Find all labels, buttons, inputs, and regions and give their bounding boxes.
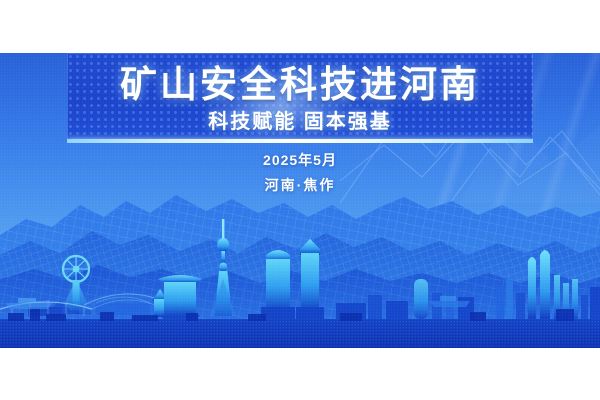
page-subtitle: 科技赋能 固本强基	[208, 112, 392, 132]
poster-image: 矿山安全科技进河南 科技赋能 固本强基 2025年5月 河南·焦作	[0, 53, 600, 348]
page-title: 矿山安全科技进河南	[120, 66, 480, 103]
event-date: 2025年5月	[0, 153, 600, 167]
poster-canvas: 矿山安全科技进河南 科技赋能 固本强基 2025年5月 河南·焦作	[0, 0, 600, 400]
title-banner: 矿山安全科技进河南 科技赋能 固本强基	[67, 53, 533, 143]
event-meta: 2025年5月 河南·焦作	[0, 153, 600, 192]
scenery-illustration	[0, 183, 600, 348]
event-location: 河南·焦作	[0, 178, 600, 192]
